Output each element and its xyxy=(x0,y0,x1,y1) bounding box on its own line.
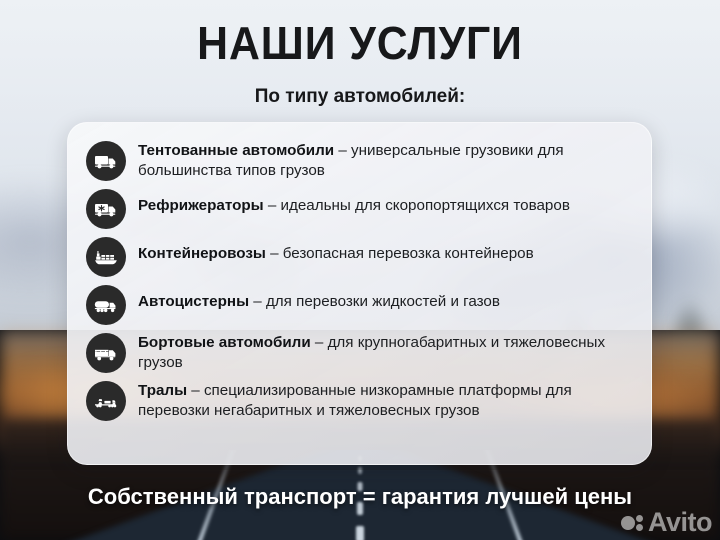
list-item-description: безопасная перевозка контейнеров xyxy=(283,245,534,262)
lowboy-trailer-icon xyxy=(86,381,126,421)
list-item-term: Тентованные автомобили xyxy=(138,142,334,159)
list-item-description: для перевозки жидкостей и газов xyxy=(266,293,500,310)
list-item-description: специализированные низкорамные платформы… xyxy=(138,382,572,419)
box-truck-icon xyxy=(86,141,126,181)
list-item-text: Рефрижераторы – идеальны для скоропортящ… xyxy=(138,187,570,216)
list-item: Автоцистерны – для перевозки жидкостей и… xyxy=(86,283,629,325)
list-item-dash: – xyxy=(266,245,283,262)
page-title: НАШИ УСЛУГИ xyxy=(25,16,695,70)
list-item: Бортовые автомобили – для крупногабаритн… xyxy=(86,331,629,373)
list-item-term: Бортовые автомобили xyxy=(138,334,311,351)
list-item-text: Контейнеровозы – безопасная перевозка ко… xyxy=(138,235,534,264)
page-subtitle: По типу автомобилей: xyxy=(0,86,720,108)
list-item-term: Контейнеровозы xyxy=(138,245,266,262)
list-item-dash: – xyxy=(264,197,281,214)
list-item-dash: – xyxy=(311,334,328,351)
list-item-term: Тралы xyxy=(138,382,187,399)
refrigerated-truck-icon xyxy=(86,189,126,229)
avito-watermark: Avito xyxy=(621,507,712,538)
list-item: Тралы – специализированные низкорамные п… xyxy=(86,379,629,421)
avito-brand-label: Avito xyxy=(648,507,712,538)
list-item-text: Тентованные автомобили – универсальные г… xyxy=(138,139,629,180)
list-item-text: Тралы – специализированные низкорамные п… xyxy=(138,379,629,420)
list-item: Контейнеровозы – безопасная перевозка ко… xyxy=(86,235,629,277)
list-item-dash: – xyxy=(249,293,266,310)
tanker-truck-icon xyxy=(86,285,126,325)
services-card: Тентованные автомобили – универсальные г… xyxy=(67,122,652,465)
list-item-dash: – xyxy=(334,142,351,159)
list-item: Рефрижераторы – идеальны для скоропортящ… xyxy=(86,187,629,229)
container-ship-icon xyxy=(86,237,126,277)
list-item-text: Автоцистерны – для перевозки жидкостей и… xyxy=(138,283,500,312)
list-item-description: идеальны для скоропортящихся товаров xyxy=(281,197,570,214)
list-item: Тентованные автомобили – универсальные г… xyxy=(86,139,629,181)
list-item-term: Рефрижераторы xyxy=(138,197,264,214)
list-item-term: Автоцистерны xyxy=(138,293,249,310)
list-item-dash: – xyxy=(187,382,204,399)
footer-tagline: Собственный транспорт = гарантия лучшей … xyxy=(0,484,720,510)
list-item-text: Бортовые автомобили – для крупногабаритн… xyxy=(138,331,629,372)
avito-logo-icon xyxy=(621,510,647,536)
flatbed-truck-icon xyxy=(86,333,126,373)
